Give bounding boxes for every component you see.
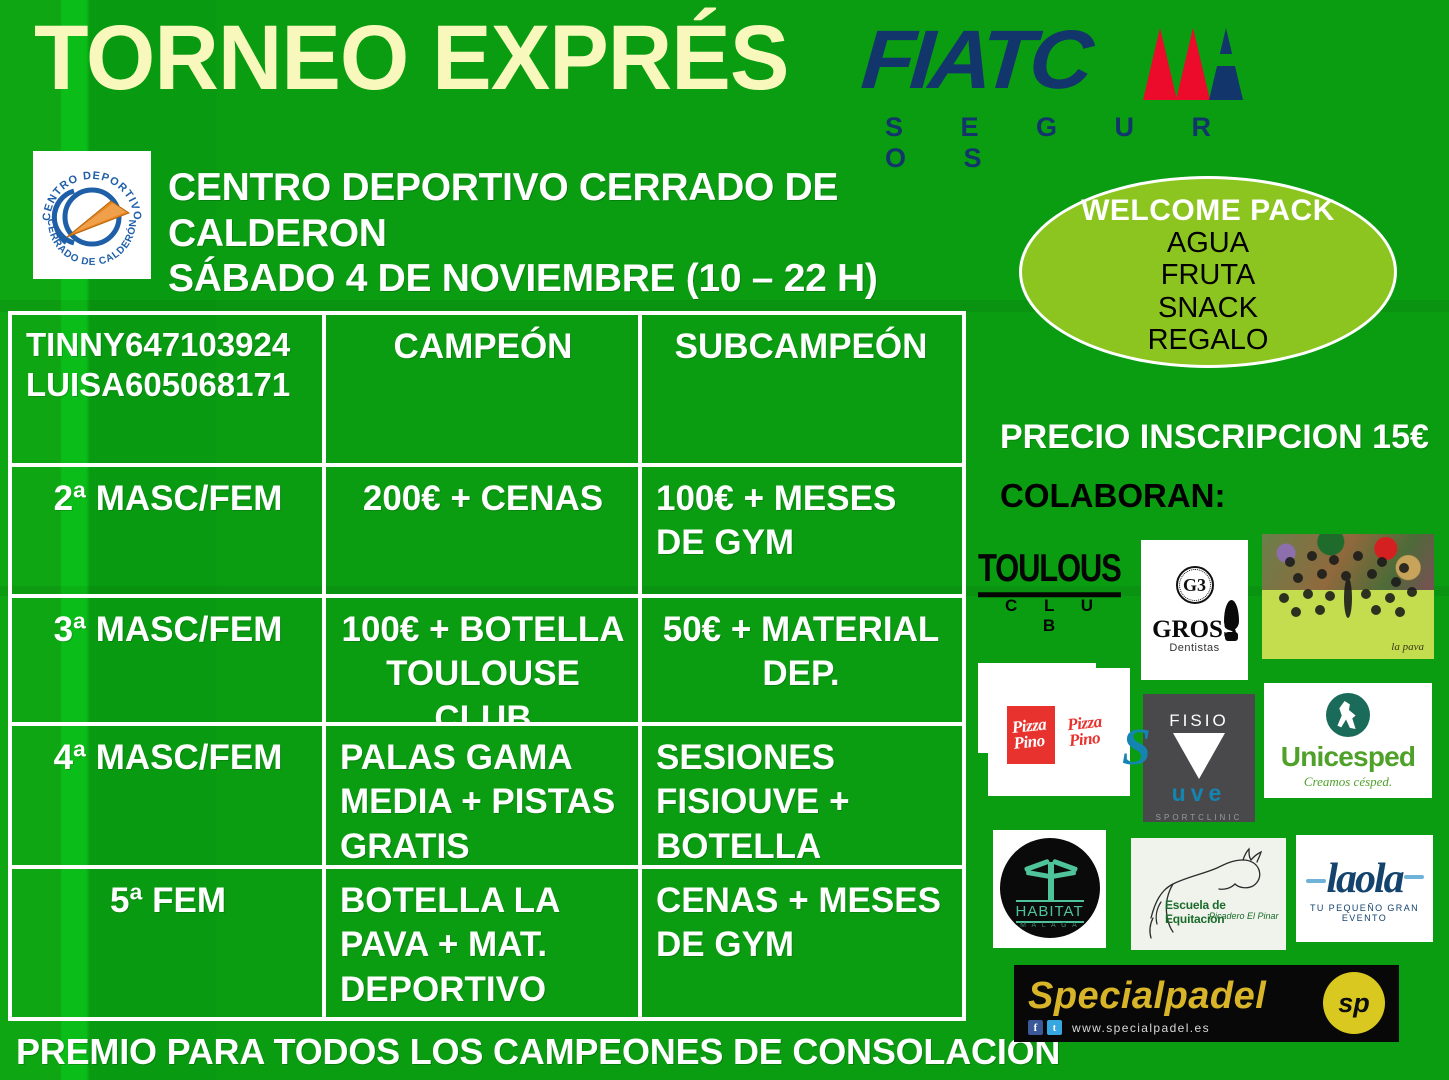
facebook-icon[interactable]: f: [1028, 1020, 1043, 1035]
contact-luisa: LUISA605068171: [26, 365, 310, 405]
header-runnerup: SUBCAMPEÓN: [642, 315, 958, 463]
contact-tinny: TINNY647103924: [26, 325, 310, 365]
palm-leaf-icon: [1050, 870, 1075, 879]
row-category: 5ª FEM: [12, 869, 326, 1017]
palm-trunk-icon: [1048, 862, 1054, 902]
sponsor-logo-unicesped: Unicesped Creamos césped.: [1264, 683, 1432, 798]
table-header-row: TINNY647103924 LUISA605068171 CAMPEÓN SU…: [12, 315, 962, 467]
moth-icon: [1262, 542, 1434, 634]
fiatc-logo: FIATC S E G U R O S: [865, 16, 1285, 141]
toulouse-club-text: C L U B: [978, 596, 1121, 636]
pizzapino-wordmark-red: Pizza Pino: [1067, 711, 1130, 749]
gross-name-row: GROSS Dentistas: [1141, 616, 1248, 654]
table-row: 5ª FEM BOTELLA LA PAVA + MAT. DEPORTIVO …: [12, 869, 962, 1017]
header-champion: CAMPEÓN: [326, 315, 642, 463]
table-row: 3ª MASC/FEM 100€ + BOTELLA TOULOUSE CLUB…: [12, 598, 962, 726]
fiatc-mark-cut: [1207, 54, 1291, 66]
sponsor-logo-habitat: HABITAT M A L A G A: [993, 830, 1106, 948]
club-logo: CENTRO DEPORTIVO CERRADO DE CALDERÓN: [33, 151, 151, 279]
specialpadel-url[interactable]: www.specialpadel.es: [1072, 1021, 1210, 1035]
fisiouve-top-text: FISIO: [1143, 711, 1255, 731]
table-row: 4ª MASC/FEM PALAS GAMA MEDIA + PISTAS GR…: [12, 726, 962, 869]
row-champion-prize: PALAS GAMA MEDIA + PISTAS GRATIS: [326, 726, 642, 865]
habitat-circle-mark: HABITAT M A L A G A: [1000, 838, 1100, 938]
unicesped-tagline: Creamos césped.: [1264, 774, 1432, 790]
sponsor-logo-toulouse-club: TOULOUSE C L U B DRINKS & COCKTAILS: [978, 543, 1121, 637]
row-runnerup-prize: CENAS + MESES DE GYM: [642, 869, 958, 1017]
welcome-pack-item-snack: SNACK: [1022, 292, 1394, 324]
row-champion-prize: 100€ + BOTELLA TOULOUSE CLUB: [326, 598, 642, 722]
fisiouve-s-swoosh-icon: S: [1122, 718, 1148, 776]
habitat-subtitle: M A L A G A: [1000, 922, 1100, 929]
row-category: 2ª MASC/FEM: [12, 467, 326, 594]
sponsor-logo-pizza-pino: Pizza Pino Pizza Pino: [988, 668, 1130, 796]
fisiouve-subtitle: SPORTCLINIC: [1143, 813, 1255, 822]
horse-sketch-icon: [1139, 846, 1279, 942]
sponsor-logo-la-pava: la pava: [1262, 534, 1434, 659]
v-shape-icon: [1173, 733, 1225, 779]
row-champion-prize: BOTELLA LA PAVA + MAT. DEPORTIVO: [326, 869, 642, 1017]
price-text: PRECIO INSCRIPCION 15€: [1000, 418, 1429, 457]
lapava-label: la pava: [1391, 641, 1424, 653]
sponsor-logo-fisio-uve: FISIO uve SPORTCLINIC: [1143, 694, 1255, 822]
row-runnerup-prize: SESIONES FISIOUVE + BOTELLA HABITAT: [642, 726, 958, 865]
table-row: 2ª MASC/FEM 200€ + CENAS 100€ + MESES DE…: [12, 467, 962, 598]
gross-subtitle: Dentistas: [1141, 642, 1248, 654]
pizzapino-box-icon: Pizza Pino: [1007, 706, 1055, 764]
wave-accent-icon: [1404, 875, 1424, 879]
welcome-pack-title: WELCOME PACK: [1022, 195, 1394, 227]
padel-ball-icon: sp: [1323, 972, 1385, 1034]
row-category: 3ª MASC/FEM: [12, 598, 326, 722]
specialpadel-sp-badge: sp: [1338, 988, 1370, 1019]
laola-tagline: TU PEQUEÑO GRAN EVENTO: [1296, 903, 1433, 923]
row-runnerup-prize: 50€ + MATERIAL DEP.: [642, 598, 958, 722]
row-category: 4ª MASC/FEM: [12, 726, 326, 865]
fiatc-wordmark: FIATC: [859, 18, 1091, 101]
habitat-wordmark: HABITAT: [1016, 900, 1084, 923]
row-runnerup-prize: 100€ + MESES DE GYM: [642, 467, 958, 594]
collaborators-label: COLABORAN:: [1000, 477, 1225, 515]
sponsor-logo-specialpadel: Specialpadel sp f t www.specialpadel.es: [1014, 965, 1399, 1042]
equitacion-subtitle: Picadero El Pinar: [1209, 912, 1279, 921]
sponsor-logo-gross-dentistas: G3 GROSS Dentistas: [1141, 540, 1248, 680]
sponsor-logo-laola: laola TU PEQUEÑO GRAN EVENTO: [1296, 835, 1433, 942]
sponsor-logo-escuela-equitacion: Escuela de Equitacion Picadero El Pinar: [1131, 838, 1286, 950]
row-champion-prize: 200€ + CENAS: [326, 467, 642, 594]
header-contacts-cell: TINNY647103924 LUISA605068171: [12, 315, 326, 463]
page-title: TORNEO EXPRÉS: [34, 12, 788, 104]
welcome-pack-badge: WELCOME PACK AGUA FRUTA SNACK REGALO: [1019, 176, 1397, 368]
fisiouve-wordmark: uve: [1143, 780, 1255, 807]
prize-table: TINNY647103924 LUISA605068171 CAMPEÓN SU…: [8, 311, 966, 1021]
venue-line-1: CENTRO DEPORTIVO CERRADO DE CALDERON: [168, 165, 1038, 256]
welcome-pack-item-regalo: REGALO: [1022, 324, 1394, 356]
gross-g3-badge: G3: [1176, 566, 1214, 604]
welcome-pack-item-agua: AGUA: [1022, 227, 1394, 259]
welcome-pack-item-fruta: FRUTA: [1022, 259, 1394, 291]
specialpadel-wordmark: Specialpadel: [1028, 975, 1266, 1018]
venue-info: CENTRO DEPORTIVO CERRADO DE CALDERON SÁB…: [168, 165, 1038, 302]
unicesped-wordmark: Unicesped: [1264, 741, 1432, 773]
toulouse-wordmark: TOULOUSE: [978, 546, 1121, 597]
footer-note: PREMIO PARA TODOS LOS CAMPEONES DE CONSO…: [16, 1031, 1060, 1073]
exclamation-icon: [1224, 600, 1239, 630]
poster-root: TORNEO EXPRÉS FIATC S E G U R O S CENTRO…: [0, 0, 1449, 1080]
kangaroo-icon: [1326, 693, 1370, 737]
wave-accent-icon: [1306, 879, 1326, 883]
pizzapino-wordmark-white: Pizza Pino: [1005, 704, 1057, 752]
venue-line-2: SÁBADO 4 DE NOVIEMBRE (10 – 22 H): [168, 256, 1038, 302]
twitter-icon[interactable]: t: [1047, 1020, 1062, 1035]
